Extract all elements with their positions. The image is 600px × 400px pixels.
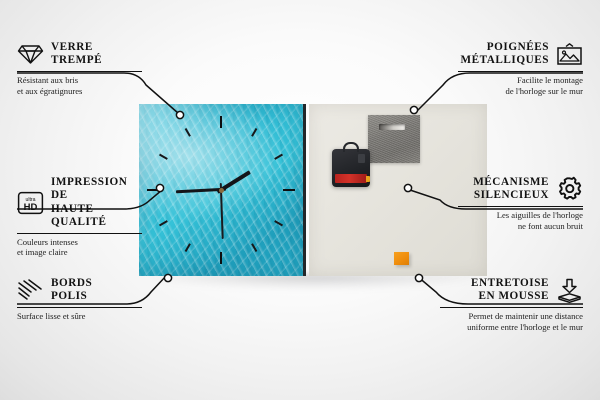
feature-title: IMPRESSION DEHAUTE QUALITÉ <box>51 176 142 230</box>
title-underline <box>17 233 142 234</box>
feature-description: Surface lisse et sûre <box>17 311 142 321</box>
mechanism-adjust-knob <box>358 154 365 163</box>
feature-description: Les aiguilles de l'horlogene font aucun … <box>458 210 583 231</box>
product-shadow <box>145 274 483 290</box>
feature-description: Résistant aux briset aux égratignures <box>17 75 142 96</box>
title-underline <box>458 71 583 72</box>
ultra-hd-icon: ultra HD <box>17 191 44 215</box>
feature-title: BORDSPOLIS <box>51 277 92 304</box>
feature-bords-polis: BORDSPOLIS Surface lisse et sûre <box>17 277 142 322</box>
foam-spacer-icon <box>556 278 583 303</box>
feature-description: Couleurs intenseset image claire <box>17 237 142 258</box>
hanger-slot <box>379 124 405 130</box>
title-underline <box>17 71 142 72</box>
feature-title: MÉCANISMESILENCIEUX <box>473 176 549 203</box>
feature-title: ENTRETOISEEN MOUSSE <box>471 277 549 304</box>
feature-description: Facilite le montagede l'horloge sur le m… <box>458 75 583 96</box>
feature-entretoise-en-mousse: ENTRETOISEEN MOUSSE Permet de maintenir … <box>440 277 583 332</box>
feature-mecanisme-silencieux: MÉCANISMESILENCIEUX Les aiguilles de l'h… <box>458 176 583 231</box>
feature-title: VERRETREMPÉ <box>51 41 102 68</box>
title-underline <box>17 307 142 308</box>
quartz-mechanism <box>332 149 370 187</box>
title-underline <box>440 307 583 308</box>
picture-frame-icon <box>556 43 583 66</box>
metallic-hanger-plate <box>368 115 420 163</box>
feature-poignees-metalliques: POIGNÉESMÉTALLIQUES Facilite le montaged… <box>458 41 583 96</box>
polished-edges-icon <box>17 279 44 301</box>
clock-face-panel <box>139 104 306 276</box>
clock-center-cap <box>219 188 224 193</box>
foam-spacer-pad <box>394 252 409 265</box>
feature-description: Permet de maintenir une distanceuniforme… <box>440 311 583 332</box>
feature-title: POIGNÉESMÉTALLIQUES <box>460 41 549 68</box>
battery <box>335 174 367 183</box>
diamond-icon <box>17 43 44 65</box>
product-photo <box>139 104 487 276</box>
mechanism-hanging-loop <box>343 142 359 152</box>
feature-impression-haute-qualite: ultra HD IMPRESSION DEHAUTE QUALITÉ Coul… <box>17 176 142 258</box>
feature-verre-trempe: VERRETREMPÉ Résistant aux briset aux égr… <box>17 41 142 96</box>
svg-text:HD: HD <box>24 202 38 213</box>
gear-icon <box>556 176 583 202</box>
title-underline <box>458 206 583 207</box>
